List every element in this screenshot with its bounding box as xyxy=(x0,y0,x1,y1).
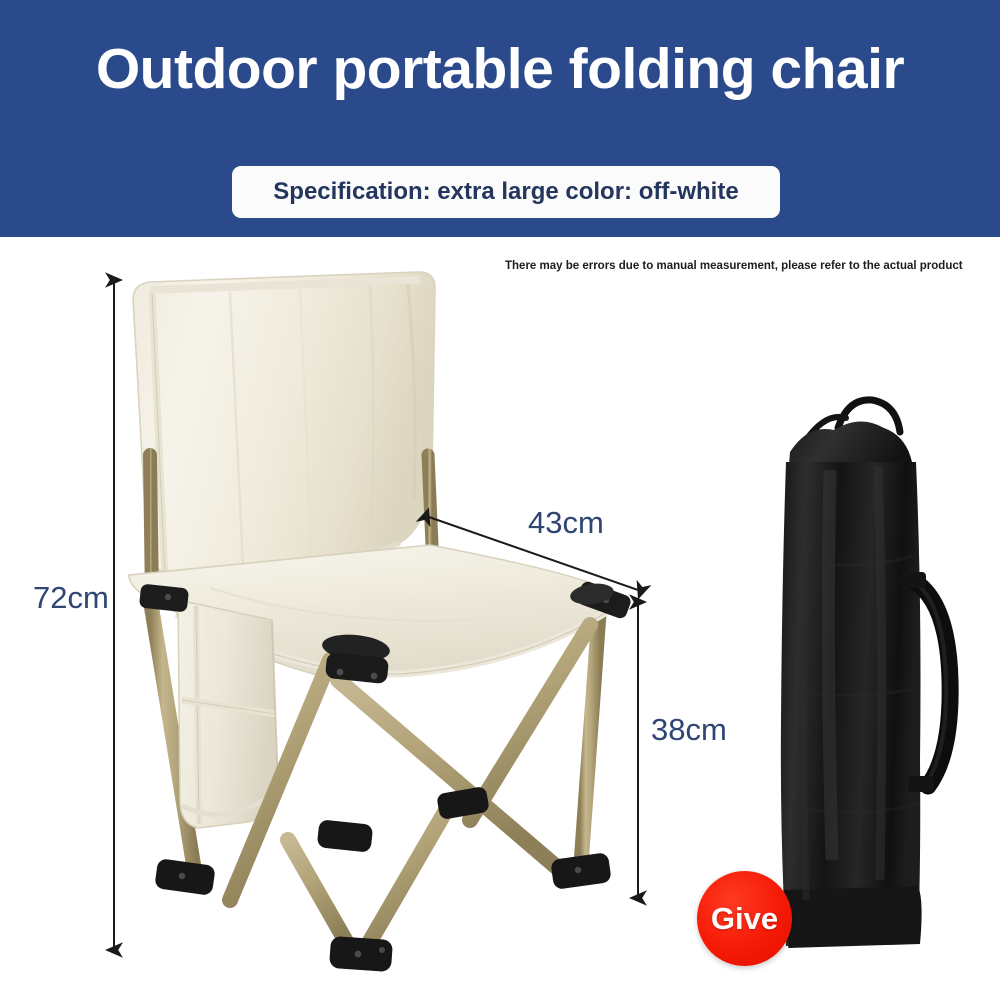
give-badge: Give xyxy=(697,871,792,966)
height-dimension-label: 72cm xyxy=(33,580,109,616)
width-dimension-label: 43cm xyxy=(528,505,604,541)
dimension-annotations xyxy=(0,0,1000,1000)
seat-height-dimension-label: 38cm xyxy=(651,712,727,748)
give-badge-label: Give xyxy=(711,901,778,937)
